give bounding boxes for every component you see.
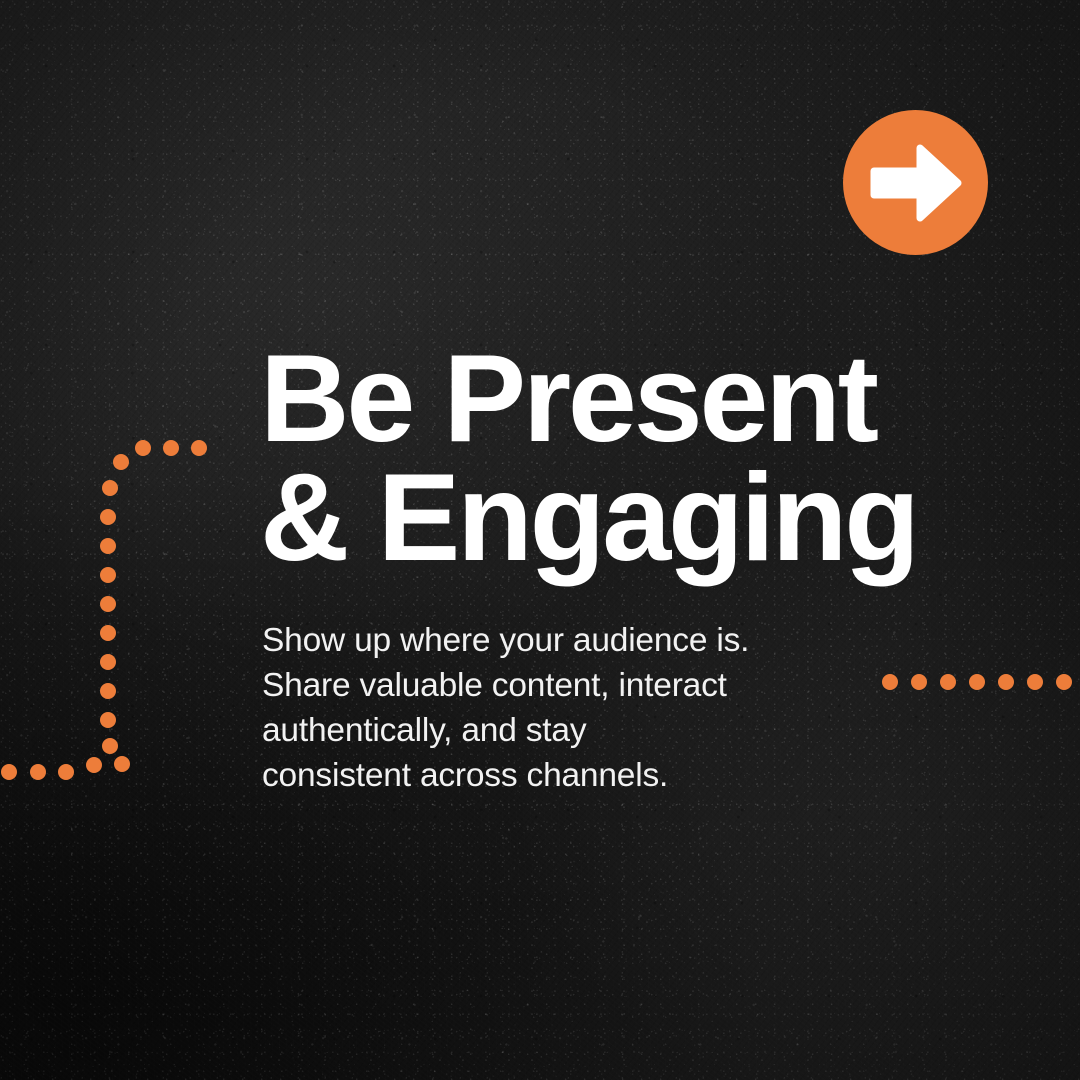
bracket-dot [100, 654, 116, 670]
line-dot [969, 674, 985, 690]
bracket-dot [114, 756, 130, 772]
bracket-dot [100, 596, 116, 612]
line-dot [1056, 674, 1072, 690]
next-slide-button[interactable] [843, 110, 988, 255]
bracket-dot [86, 757, 102, 773]
bracket-dot [100, 712, 116, 728]
bracket-dot [135, 440, 151, 456]
arrow-right-icon [870, 143, 962, 223]
bracket-dot [58, 764, 74, 780]
bracket-dot [30, 764, 46, 780]
social-post-slide: Be Present & Engaging Show up where your… [0, 0, 1080, 1080]
bracket-dot [1, 764, 17, 780]
bracket-dot [163, 440, 179, 456]
bracket-dot [191, 440, 207, 456]
bracket-dot [102, 738, 118, 754]
page-title: Be Present & Engaging [260, 340, 1020, 578]
bracket-dot [113, 454, 129, 470]
bracket-dot [100, 625, 116, 641]
line-dot [940, 674, 956, 690]
line-dot [911, 674, 927, 690]
line-dot [1027, 674, 1043, 690]
bracket-dot [100, 683, 116, 699]
bracket-dot [100, 567, 116, 583]
body-copy: Show up where your audience is. Share va… [262, 618, 902, 798]
line-dot [998, 674, 1014, 690]
bracket-dot [100, 538, 116, 554]
bracket-dot [100, 509, 116, 525]
bracket-dot [102, 480, 118, 496]
